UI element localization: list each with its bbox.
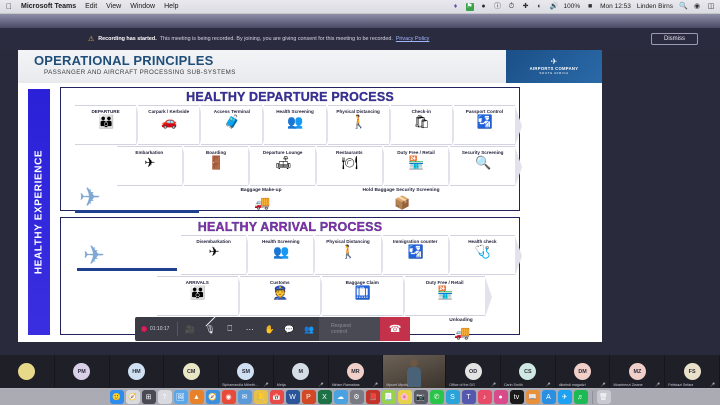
muted-microphone-icon: 🎤 <box>601 382 606 387</box>
participant-tile[interactable]: MRMiriam Ramadwa🎤 <box>329 355 384 388</box>
dropbox-icon[interactable]: ♦ <box>452 3 460 11</box>
participant-tile[interactable]: CSCarin Smith🎤 <box>501 355 556 388</box>
apple-logo-icon[interactable]:  <box>6 3 12 11</box>
menubar-status-area: ♦ ⚑ ● ⓘ ⏱ ✚ ◐ 🔊 100% ■ Mon 12:53 Linden … <box>452 3 720 11</box>
avatar: MZ <box>629 363 646 380</box>
participant-tile[interactable]: MMetja🎤 <box>274 355 329 388</box>
spotify-icon[interactable]: ♬ <box>574 390 588 404</box>
twitter-icon[interactable]: ✈ <box>558 390 572 404</box>
timer-text: 01:10:17 <box>150 326 169 332</box>
stage-art-icon: 🛂 <box>477 115 492 129</box>
info-icon[interactable]: ⓘ <box>494 3 502 11</box>
dock-separator <box>592 391 593 404</box>
departure-label-baggage-make-up: Baggage Make-up <box>221 188 301 193</box>
shared-presentation-slide[interactable]: OPERATIONAL PRINCIPLES PASSANGER AND AIR… <box>18 50 602 342</box>
avatar: PM <box>73 363 90 380</box>
privacy-policy-link[interactable]: Privacy Policy <box>396 36 430 42</box>
stage-art-icon: 🛂 <box>408 245 423 259</box>
avatar: HM <box>128 363 145 380</box>
arrival-row-2: ARRIVALS👪Customs👮Baggage Claim🛄Duty Free… <box>61 276 519 316</box>
participant-name: Miriam Ramadwa <box>332 383 360 387</box>
participant-tile[interactable]: PM <box>55 355 110 388</box>
battery-icon[interactable]: ■ <box>586 3 594 11</box>
participant-video-tile[interactable]: Mpumi Mpofu <box>383 355 446 388</box>
slide-subtitle: PASSANGER AND AIRCRAFT PROCESSING SUB-SY… <box>44 69 236 76</box>
macos-dock: 🙂🧭⊞?🖼▲🧭◉✉📒📅WPX☁⚙📕📃🌸📷✆ST♪●tv📖A✈♬🗑 <box>0 388 720 405</box>
trash-icon[interactable]: 🗑 <box>597 390 611 404</box>
stage-art-icon: 🩺 <box>475 245 490 259</box>
participant-tile[interactable]: MZMosebenzi Zwane🎤 <box>610 355 665 388</box>
books-icon[interactable]: 📖 <box>526 390 540 404</box>
participant-tile[interactable]: DMdikeledi magadzi🎤 <box>556 355 611 388</box>
avatar: OD <box>465 363 482 380</box>
request-control-button[interactable]: Request control <box>319 317 380 341</box>
avatar: CS <box>519 363 536 380</box>
arrival-stage-immigration-counter: Immigration counter🛂 <box>383 235 448 275</box>
departure-stage-check-in: Check-in🛍 <box>391 105 452 145</box>
departure-process-box: HEALTHY DEPARTURE PROCESS DEPARTURE👪Carp… <box>60 87 520 211</box>
calendar-icon[interactable]: 📅 <box>270 390 284 404</box>
stage-art-icon: 🛍 <box>414 115 430 129</box>
search-icon[interactable]: 🔍 <box>679 3 687 11</box>
stage-art-icon: 🏪 <box>408 156 423 170</box>
color-icon[interactable]: ● <box>494 390 508 404</box>
departure-stage-security-screening: Security Screening🔍 <box>450 146 515 186</box>
divider <box>177 322 178 336</box>
dismiss-button[interactable]: Dismiss <box>651 33 698 45</box>
participant-name: dikeledi magadzi <box>559 383 586 387</box>
participant-name: Fefekazi Sefara <box>668 383 693 387</box>
menu-edit[interactable]: Edit <box>85 3 97 10</box>
participant-name: Mpumi Mpofu <box>386 383 408 387</box>
arrival-stage-physical-distancing: Physical Distancing🚶 <box>315 235 380 275</box>
arrival-stage-disembarkation: Disembarkation✈ <box>181 235 246 275</box>
siri-icon[interactable]: ◫ <box>707 3 715 11</box>
participants-icon[interactable]: 👥 <box>299 317 319 341</box>
meeting-control-bar: 01:10:17 🎥 🎙 ⎕ ⋯ ✋ 💬 👥 Request control ☎ <box>135 317 410 341</box>
muted-microphone-icon: 🎤 <box>710 382 715 387</box>
notes-icon[interactable]: 📒 <box>254 390 268 404</box>
departure-stage-embarkation: Embarkation✈ <box>117 146 182 186</box>
avatar <box>18 363 35 380</box>
photos-icon[interactable]: 🌸 <box>398 390 412 404</box>
help-icon[interactable]: ? <box>158 390 172 404</box>
preview-icon[interactable]: 🖼 <box>174 390 188 404</box>
avatar: CM <box>183 363 200 380</box>
powerpoint-icon[interactable]: P <box>302 390 316 404</box>
avatar: SM <box>237 363 254 380</box>
acrobat-icon[interactable]: 📕 <box>366 390 380 404</box>
departure-art-icon: 📦 <box>394 195 409 211</box>
onedrive-icon[interactable]: ☁ <box>334 390 348 404</box>
arrival-stage-arrivals: ARRIVALS👪 <box>157 276 238 316</box>
departure-stage-duty-free-retail: Duty Free / Retail🏪 <box>384 146 449 186</box>
menu-help[interactable]: Help <box>164 3 178 10</box>
menubar-app-name[interactable]: Microsoft Teams <box>21 3 76 10</box>
wifi-icon[interactable]: ◐ <box>536 3 544 11</box>
arrival-stage-customs: Customs👮 <box>240 276 321 316</box>
appstore-icon[interactable]: A <box>542 390 556 404</box>
recording-banner: ⚠ Recording has started. This meeting is… <box>0 28 720 50</box>
participant-tile[interactable]: SMSiphamandla Mtheth...🎤 <box>219 355 274 388</box>
hangup-icon[interactable]: ☎ <box>380 317 410 341</box>
battery-percent[interactable]: 100% <box>564 3 581 10</box>
stage-art-icon: 👪 <box>190 286 205 300</box>
participant-tile[interactable] <box>0 355 55 388</box>
camera-icon[interactable]: 📷 <box>414 390 428 404</box>
healthy-experience-sidebar: HEALTHY EXPERIENCE <box>28 89 50 335</box>
menubar-username[interactable]: Linden Birns <box>637 3 673 10</box>
notes2-icon[interactable]: 📃 <box>382 390 396 404</box>
camera-icon[interactable]: 🎥 <box>180 317 200 341</box>
flag-icon[interactable]: ⚑ <box>466 3 474 11</box>
stage-art-icon: 🍽 <box>342 156 358 170</box>
music-icon[interactable]: ♪ <box>478 390 492 404</box>
stage-art-icon: 🚪 <box>208 156 223 170</box>
recording-timer: 01:10:17 <box>135 326 175 332</box>
departure-art-icon: 🚚 <box>254 195 269 211</box>
departure-stage-departure-lounge: Departure Lounge🛋 <box>250 146 315 186</box>
logo-line2: SOUTH AFRICA <box>539 71 568 75</box>
departure-row-3: ✈Baggage Make-up🚚Hold Baggage Security S… <box>61 186 519 220</box>
slide-body: HEALTHY EXPERIENCE HEALTHY DEPARTURE PRO… <box>18 83 602 342</box>
warning-icon: ⚠ <box>88 35 94 43</box>
participant-tile[interactable]: HM <box>110 355 165 388</box>
participant-name: Siphamandla Mtheth... <box>222 383 258 387</box>
word-icon[interactable]: W <box>286 390 300 404</box>
stage-art-icon: 🔍 <box>475 156 490 170</box>
arrival-stage-baggage-claim: Baggage Claim🛄 <box>322 276 403 316</box>
menu-view[interactable]: View <box>106 3 121 10</box>
stage-art-icon: ✈ <box>209 245 219 259</box>
launchpad-icon[interactable]: ⊞ <box>142 390 156 404</box>
muted-microphone-icon: 🎤 <box>373 382 378 387</box>
participant-name: Carin Smith <box>504 383 523 387</box>
muted-microphone-icon: 🎤 <box>319 382 324 387</box>
arrival-stage-health-screening: Health Screening👥 <box>248 235 313 275</box>
participant-tile[interactable]: ODOffice of the DG🎤 <box>446 355 501 388</box>
whatsapp-icon[interactable]: ✆ <box>430 390 444 404</box>
arrival-process-title: HEALTHY ARRIVAL PROCESS <box>61 220 519 234</box>
stage-art-icon: 🏪 <box>437 286 452 300</box>
microphone-muted-icon[interactable]: 🎙 <box>200 317 220 341</box>
participant-name: Mosebenzi Zwane <box>613 383 642 387</box>
mail-icon[interactable]: ✉ <box>238 390 252 404</box>
vlc-icon[interactable]: ▲ <box>190 390 204 404</box>
recording-banner-strong: Recording has started. <box>98 36 156 42</box>
muted-microphone-icon: 🎤 <box>491 382 496 387</box>
raise-hand-icon[interactable]: ✋ <box>260 317 280 341</box>
screen-root:  Microsoft Teams Edit View Window Help … <box>0 0 720 405</box>
arrival-stage-duty-free-retail: Duty Free / Retail🏪 <box>405 276 486 316</box>
stage-art-icon: 🧳 <box>224 115 239 129</box>
shield-icon[interactable]: ● <box>480 3 488 11</box>
departure-stage-access-terminal: Access Terminal🧳 <box>201 105 262 145</box>
arrival-stage-health-check: Health check🩺 <box>450 235 515 275</box>
skype-icon[interactable]: S <box>446 390 460 404</box>
finder-icon[interactable]: 🙂 <box>110 390 124 404</box>
departure-runway <box>75 210 199 213</box>
stage-art-icon: 👥 <box>287 115 302 129</box>
departure-stage-physical-distancing: Physical Distancing🚶 <box>328 105 389 145</box>
stage-art-icon: 🛋 <box>275 156 291 170</box>
stage-art-icon: 👮 <box>272 286 287 300</box>
window-title-strip <box>0 14 720 28</box>
stage-art-icon: 🚶 <box>351 115 366 129</box>
volume-icon[interactable]: 🔊 <box>550 3 558 11</box>
departure-stage-passport-control: Passport Control🛂 <box>454 105 515 145</box>
departure-stage-health-screening: Health Screening👥 <box>264 105 325 145</box>
stage-art-icon: 🚶 <box>340 245 355 259</box>
departure-aircraft-icon: ✈ <box>79 182 101 213</box>
settings-icon[interactable]: ⚙ <box>350 390 364 404</box>
menubar-left:  Microsoft Teams Edit View Window Help <box>0 3 179 11</box>
safari-icon[interactable]: 🧭 <box>126 390 140 404</box>
teams-icon[interactable]: T <box>462 390 476 404</box>
video-person <box>407 367 421 387</box>
airplane-logo-icon: ✈ <box>551 58 558 66</box>
departure-label-hold-baggage-security-screening: Hold Baggage Security Screening <box>331 188 471 193</box>
arrival-aircraft-icon: ✈ <box>83 240 105 271</box>
stage-art-icon: 🛄 <box>355 286 370 300</box>
sidebar-label: HEALTHY EXPERIENCE <box>34 150 45 274</box>
share-screen-icon[interactable]: ⎕ <box>220 317 240 341</box>
record-icon <box>141 326 147 332</box>
bluetooth-icon[interactable]: ✚ <box>522 3 530 11</box>
stage-art-icon: 🚗 <box>161 115 176 129</box>
menubar-clock[interactable]: Mon 12:53 <box>600 3 631 10</box>
departure-stage-restaurants: Restaurants🍽 <box>317 146 382 186</box>
avatar: MR <box>347 363 364 380</box>
departure-stage-carpark-kerbside: Carpark / Kerbside🚗 <box>138 105 199 145</box>
avatar: M <box>292 363 309 380</box>
arrival-runway <box>77 268 177 271</box>
slide-header: OPERATIONAL PRINCIPLES PASSANGER AND AIR… <box>18 50 602 83</box>
excel-icon[interactable]: X <box>318 390 332 404</box>
departure-row-2: Embarkation✈Boarding🚪Departure Lounge🛋Re… <box>61 146 519 186</box>
participant-name: Metja <box>277 383 286 387</box>
clock-icon[interactable]: ⏱ <box>508 3 516 11</box>
departure-stage-boarding: Boarding🚪 <box>184 146 249 186</box>
participant-tile[interactable]: FSFefekazi Sefara🎤 <box>665 355 720 388</box>
compass-icon[interactable]: 🧭 <box>206 390 220 404</box>
participant-name: Office of the DG <box>449 383 475 387</box>
participant-strip: PMHMCMSMSiphamandla Mtheth...🎤MMetja🎤MRM… <box>0 355 720 388</box>
menu-window[interactable]: Window <box>130 3 155 10</box>
recording-banner-text: This meeting is being recorded. By joini… <box>160 36 393 42</box>
departure-stage-departure: DEPARTURE👪 <box>75 105 136 145</box>
acsa-logo: ✈ AIRPORTS COMPANY SOUTH AFRICA <box>506 50 602 83</box>
chat-icon[interactable]: 💬 <box>279 317 299 341</box>
stage-art-icon: 👥 <box>273 245 288 259</box>
control-center-icon[interactable]: ◉ <box>693 3 701 11</box>
arrival-art-icon: 🚚 <box>454 325 469 341</box>
stage-art-icon: ✈ <box>144 156 154 170</box>
arrival-label-unloading: Unloading <box>431 318 491 323</box>
muted-microphone-icon: 🎤 <box>655 382 660 387</box>
macos-menubar:  Microsoft Teams Edit View Window Help … <box>0 0 720 14</box>
avatar: FS <box>684 363 701 380</box>
avatar: DM <box>574 363 591 380</box>
muted-microphone-icon: 🎤 <box>546 382 551 387</box>
chrome-icon[interactable]: ◉ <box>222 390 236 404</box>
stage-art-icon: 👪 <box>98 115 113 129</box>
appletv-icon[interactable]: tv <box>510 390 524 404</box>
page-title: OPERATIONAL PRINCIPLES <box>34 53 213 68</box>
muted-microphone-icon: 🎤 <box>264 382 269 387</box>
departure-process-title: HEALTHY DEPARTURE PROCESS <box>61 90 519 104</box>
participant-tile[interactable]: CM <box>164 355 219 388</box>
more-options-icon[interactable]: ⋯ <box>240 317 260 341</box>
departure-row-1: DEPARTURE👪Carpark / Kerbside🚗Access Term… <box>61 105 519 145</box>
